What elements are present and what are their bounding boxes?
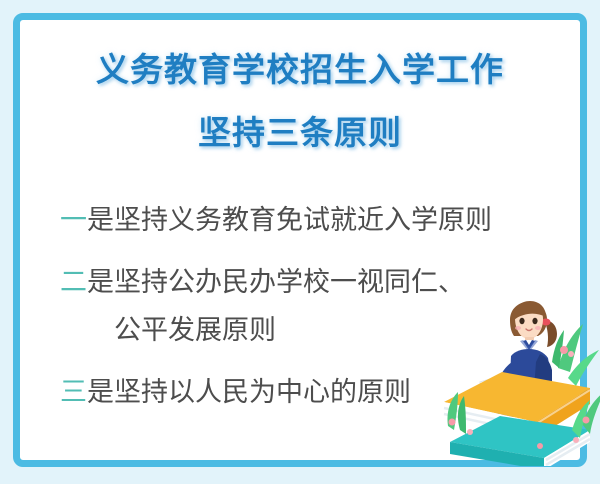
- principle-number-3: 三: [60, 377, 87, 407]
- page-title: 义务教育学校招生入学工作 坚持三条原则: [20, 48, 580, 155]
- principle-number-1: 一: [60, 205, 87, 235]
- poster-root: 义务教育学校招生入学工作 坚持三条原则 一是坚持义务教育免试就近入学原则 二是坚…: [0, 0, 600, 484]
- principle-item-1: 一是坚持义务教育免试就近入学原则: [60, 202, 580, 238]
- title-line-2: 坚持三条原则: [20, 111, 580, 155]
- principle-item-2: 二是坚持公办民办学校一视同仁、: [60, 264, 580, 300]
- leaf-cluster-back: [552, 324, 599, 386]
- principle-text-1: 是坚持义务教育免试就近入学原则: [87, 205, 492, 235]
- principle-number-2: 二: [60, 267, 87, 297]
- title-line-1: 义务教育学校招生入学工作: [20, 48, 580, 92]
- principle-text-2: 是坚持公办民办学校一视同仁、: [87, 267, 465, 297]
- principle-text-3: 是坚持以人民为中心的原则: [87, 377, 411, 407]
- girl-reading-on-books-illustration: [440, 296, 600, 466]
